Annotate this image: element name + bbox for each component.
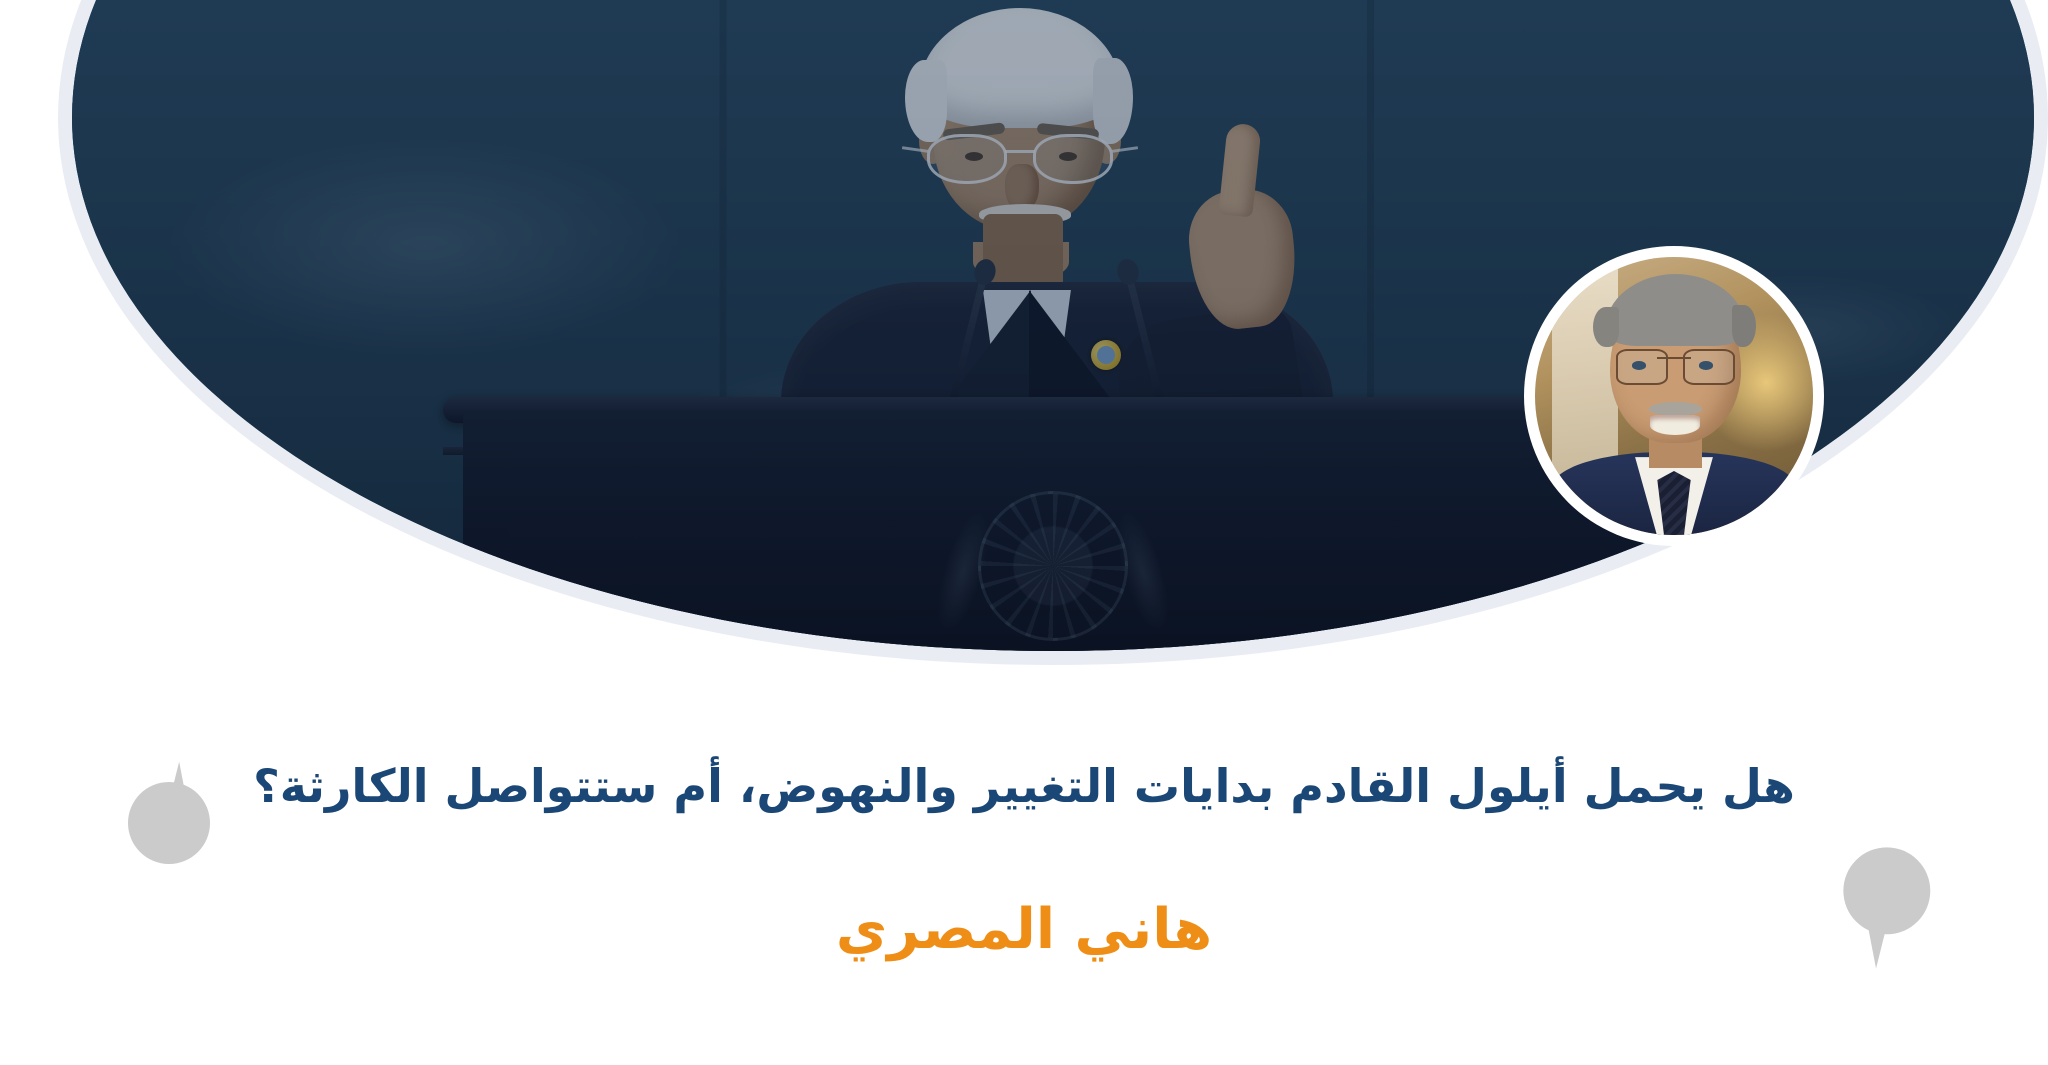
avatar-eye-right — [1699, 361, 1713, 369]
author-name: هاني المصري — [0, 896, 2048, 963]
avatar-hair — [1605, 274, 1747, 346]
avatar-mustache — [1649, 402, 1702, 416]
article-quote-card: هل يحمل أيلول القادم بدايات التغيير والن… — [0, 0, 2048, 1065]
author-avatar-photo — [1535, 257, 1813, 535]
avatar-eye-left — [1632, 361, 1646, 369]
avatar-glasses-bridge — [1657, 357, 1690, 359]
avatar-smile — [1650, 415, 1700, 434]
author-avatar[interactable] — [1524, 246, 1824, 546]
article-headline: هل يحمل أيلول القادم بدايات التغيير والن… — [0, 758, 2048, 816]
